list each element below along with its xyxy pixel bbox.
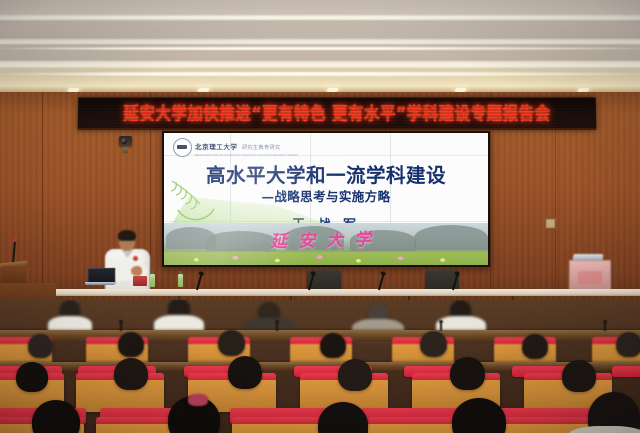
slide-title: 高水平大学和一流学科建设 [164, 159, 488, 188]
audience-head [188, 394, 208, 406]
audience-head [562, 360, 596, 392]
presenter-glasses [119, 240, 135, 245]
water-bottle [178, 274, 183, 287]
audience-head [114, 358, 148, 390]
audience-head [320, 333, 346, 358]
audience-head [338, 359, 372, 391]
slide-logo-english: BEIJING INSTITUTE OF TECHNOLOGY GRADUATE… [195, 155, 298, 158]
presenter-laptop [85, 268, 115, 285]
desk-microphone [120, 322, 122, 331]
camera-mount [123, 146, 128, 153]
slide-logo-institution: 北京理工大学 [195, 143, 238, 151]
laptop-base [85, 282, 115, 285]
audience-head [218, 330, 245, 356]
desk-microphone [276, 322, 278, 331]
projection-screen-frame: 北京理工大学 研究生教育研究 BEIJING INSTITUTE OF TECH… [162, 131, 490, 267]
camera-lens [121, 138, 127, 144]
audience-head [616, 332, 640, 357]
gift-box-label [578, 271, 602, 284]
presenter-badge [133, 256, 138, 261]
audience-head [28, 334, 53, 358]
audience-head [16, 362, 48, 392]
wall-outlet [545, 218, 556, 229]
slide-logo: 北京理工大学 研究生教育研究 BEIJING INSTITUTE OF TECH… [173, 137, 309, 157]
led-banner-text: 延安大学加快推进“更有特色 更有水平”学科建设专题报告会 [123, 101, 551, 126]
red-desk-item [133, 276, 147, 286]
water-bottle [150, 274, 155, 287]
audience-head [228, 356, 262, 389]
desk-microphone [440, 322, 442, 331]
gift-box-body [569, 260, 611, 290]
cove-light-strip-1 [0, 16, 640, 19]
desk-microphone [604, 322, 606, 331]
slide-logo-text: 北京理工大学 研究生教育研究 BEIJING INSTITUTE OF TECH… [195, 137, 309, 157]
lecture-hall-photo: 延安大学加快推进“更有特色 更有水平”学科建设专题报告会 北京理工大学 研究生教… [0, 0, 640, 433]
ceiling [0, 0, 640, 96]
photo-flowerbed [164, 252, 488, 265]
projection-screen: 北京理工大学 研究生教育研究 BEIJING INSTITUTE OF TECH… [164, 133, 488, 265]
security-camera-icon [119, 136, 132, 146]
slide-logo-department: 研究生教育研究 [242, 145, 280, 151]
university-seal-icon [173, 138, 192, 157]
chair-cushion [612, 366, 640, 377]
cove-light-strip-2 [0, 47, 640, 50]
led-banner: 延安大学加快推进“更有特色 更有水平”学科建设专题报告会 [78, 97, 597, 130]
gift-box [569, 254, 609, 289]
audience-head [420, 331, 447, 357]
wall-panel-seam [42, 92, 43, 307]
audience-area [0, 300, 640, 433]
audience-head [32, 400, 80, 433]
audience-head [522, 334, 548, 359]
cove-light-strip-3 [0, 72, 640, 76]
audience-head [450, 357, 485, 390]
audience-head [118, 332, 144, 357]
presenter-hand [131, 266, 142, 276]
